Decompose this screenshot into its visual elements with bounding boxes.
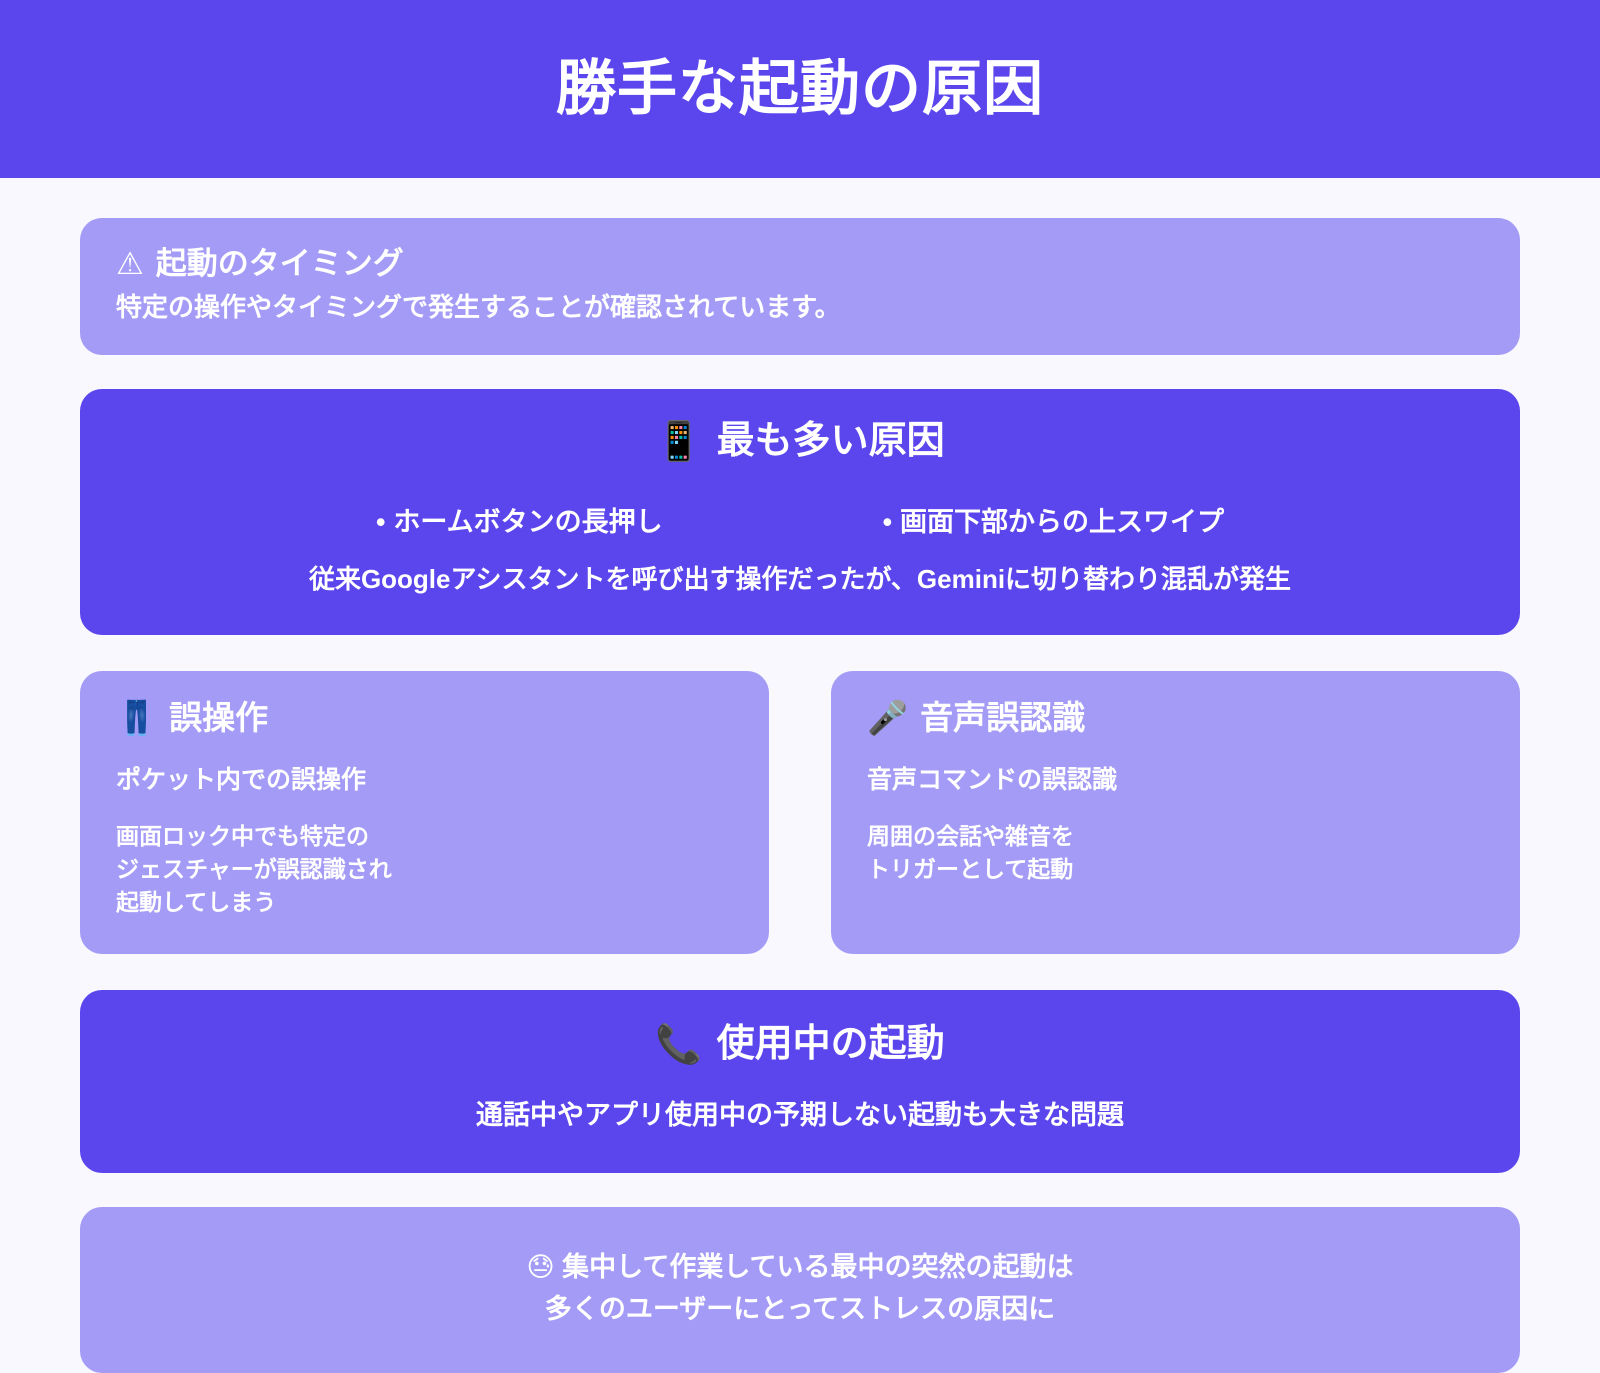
card-most-common-cause-heading: 📱 最も多い原因 <box>120 417 1480 466</box>
page-title: 勝手な起動の原因 <box>556 56 1044 122</box>
warning-triangle-icon: ⚠ <box>116 244 144 284</box>
two-column-card-row: 👖 誤操作 ポケット内での誤操作 画面ロック中でも特定の ジェスチャーが誤認識さ… <box>80 671 1520 954</box>
bullet-dot-icon: • <box>883 507 892 537</box>
card-voice-misrecognition-title: 音声誤認識 <box>920 697 1085 740</box>
card-stress-note-text-1: 集中して作業している最中の突然の起動は <box>562 1252 1073 1282</box>
list-item: •ホームボタンの長押し <box>376 505 663 540</box>
list-item-label: 画面下部からの上スワイプ <box>900 507 1224 537</box>
card-most-common-cause-note: 従来Googleアシスタントを呼び出す操作だったが、Geminiに切り替わり混乱… <box>120 562 1480 597</box>
card-most-common-cause-title: 最も多い原因 <box>717 417 945 466</box>
card-stress-note-line-2: 多くのユーザーにとってストレスの原因に <box>120 1289 1480 1330</box>
bullet-dot-icon: • <box>376 507 385 537</box>
card-in-use-launch-body: 通話中やアプリ使用中の予期しない起動も大きな問題 <box>120 1097 1480 1133</box>
page-header: 勝手な起動の原因 <box>0 0 1600 178</box>
card-voice-misrecognition-body: 周囲の会話や雑音を トリガーとして起動 <box>867 820 1484 887</box>
list-item: •画面下部からの上スワイプ <box>883 505 1224 540</box>
list-item-label: ホームボタンの長押し <box>393 507 662 537</box>
card-misoperation-subtitle: ポケット内での誤操作 <box>116 764 733 798</box>
card-misoperation-title: 誤操作 <box>169 697 268 740</box>
card-launch-timing: ⚠ 起動のタイミング 特定の操作やタイミングで発生することが確認されています。 <box>80 218 1520 355</box>
card-most-common-cause: 📱 最も多い原因 •ホームボタンの長押し •画面下部からの上スワイプ 従来Goo… <box>80 389 1520 635</box>
card-stress-note-line-1: 😓 集中して作業している最中の突然の起動は <box>120 1247 1480 1289</box>
telephone-receiver-icon: 📞 <box>655 1020 702 1069</box>
card-misoperation: 👖 誤操作 ポケット内での誤操作 画面ロック中でも特定の ジェスチャーが誤認識さ… <box>80 671 769 954</box>
content-area: ⚠ 起動のタイミング 特定の操作やタイミングで発生することが確認されています。 … <box>0 178 1600 1373</box>
jeans-icon: 👖 <box>116 697 157 740</box>
card-stress-note: 😓 集中して作業している最中の突然の起動は 多くのユーザーにとってストレスの原因… <box>80 1207 1520 1373</box>
card-voice-misrecognition: 🎤 音声誤認識 音声コマンドの誤認識 周囲の会話や雑音を トリガーとして起動 <box>831 671 1520 954</box>
card-launch-timing-body: 特定の操作やタイミングで発生することが確認されています。 <box>116 290 1484 325</box>
downcast-face-with-sweat-icon: 😓 <box>526 1252 554 1283</box>
card-launch-timing-title: 起動のタイミング <box>156 244 404 284</box>
card-in-use-launch-title: 使用中の起動 <box>717 1020 945 1069</box>
card-launch-timing-heading: ⚠ 起動のタイミング <box>116 244 1484 284</box>
card-in-use-launch: 📞 使用中の起動 通話中やアプリ使用中の予期しない起動も大きな問題 <box>80 990 1520 1174</box>
card-voice-misrecognition-subtitle: 音声コマンドの誤認識 <box>867 764 1484 798</box>
card-in-use-launch-heading: 📞 使用中の起動 <box>120 1020 1480 1069</box>
card-misoperation-heading: 👖 誤操作 <box>116 697 733 740</box>
microphone-icon: 🎤 <box>867 697 908 740</box>
mobile-phone-icon: 📱 <box>655 417 702 466</box>
card-misoperation-body: 画面ロック中でも特定の ジェスチャーが誤認識され 起動してしまう <box>116 820 733 920</box>
card-voice-misrecognition-heading: 🎤 音声誤認識 <box>867 697 1484 740</box>
cause-bullet-list: •ホームボタンの長押し •画面下部からの上スワイプ <box>120 505 1480 540</box>
